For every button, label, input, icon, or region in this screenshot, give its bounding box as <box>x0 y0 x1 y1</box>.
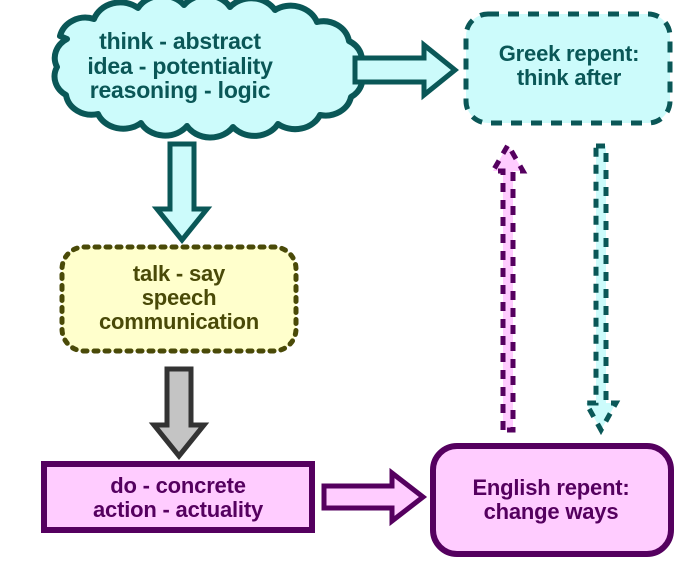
arrow-right-pink-shape <box>324 473 423 521</box>
node-do[interactable] <box>44 464 312 530</box>
do-box <box>44 464 312 530</box>
cloud-shape <box>55 0 363 137</box>
talk-box <box>62 247 296 351</box>
arrow-down-cyan-shape <box>157 144 207 240</box>
node-talk[interactable] <box>62 247 296 351</box>
arrow-do-to-english <box>324 473 423 521</box>
arrow-down-gray-shape <box>154 369 204 456</box>
arrow-talk-to-do <box>154 369 204 456</box>
node-english-repent[interactable] <box>433 446 671 554</box>
arrow-right-cyan-shape <box>355 45 455 95</box>
arrow-think-to-talk <box>157 144 207 240</box>
greek-repent-box <box>466 14 670 123</box>
node-greek-repent[interactable] <box>466 14 670 123</box>
arrow-up-pink-dashed-shape <box>493 145 523 430</box>
arrow-greek-to-english <box>586 146 616 430</box>
arrow-down-cyan-dashed-shape <box>586 146 616 430</box>
node-think-cloud[interactable] <box>55 0 363 137</box>
arrow-english-to-greek <box>493 145 523 430</box>
english-repent-box <box>433 446 671 554</box>
diagram-canvas: think - abstract idea - potentiality rea… <box>0 0 688 576</box>
diagram-graphics <box>0 0 688 576</box>
arrow-think-to-greek <box>355 45 455 95</box>
